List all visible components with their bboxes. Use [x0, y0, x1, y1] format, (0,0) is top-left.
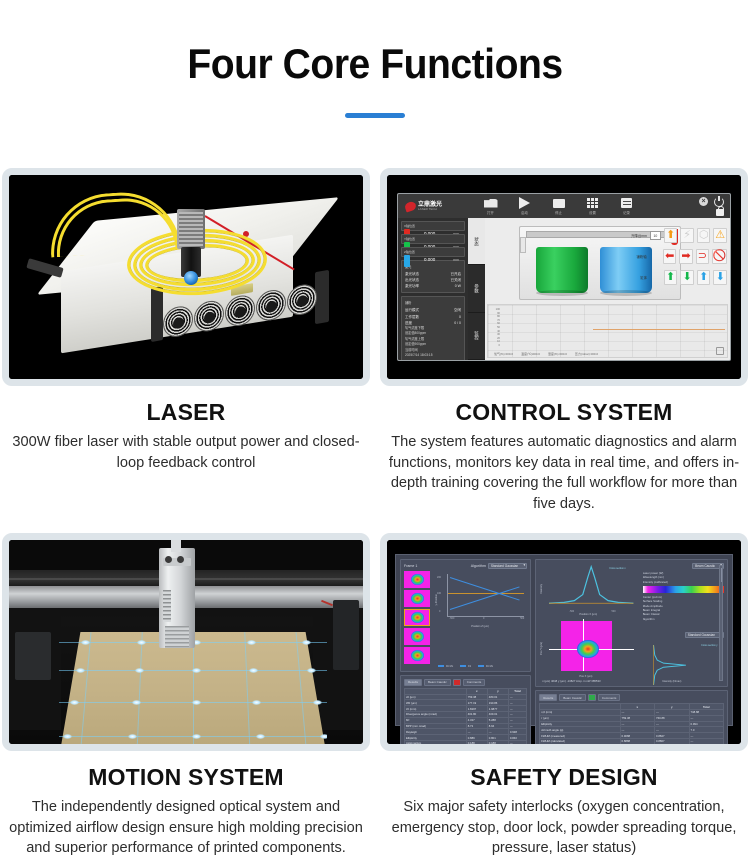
- tab-results[interactable]: Results: [404, 679, 422, 686]
- axis-z-label: Z轴位置: [404, 250, 462, 254]
- tab-record-indicator[interactable]: [453, 679, 461, 686]
- hmi-screen: 立鼎激光 LASER TECH 打开: [397, 193, 731, 361]
- color-spectrum-bar: [643, 586, 724, 593]
- chart-footer-temp: 温度(℃)000.0: [521, 352, 540, 356]
- param-intensity: Intensity (calibrated): [643, 580, 724, 584]
- results-panel-right: Results Beam Caustic Comments x: [535, 690, 728, 744]
- trend-chart: 10090807060 50403020100 氧气(%) 000.0 温度(℃…: [487, 304, 728, 358]
- axis-readout-z: Z轴位置 0.000 mm: [401, 247, 465, 257]
- side-tab-monitor[interactable]: 监控: [468, 313, 485, 360]
- laser-power-value: 0 W: [455, 283, 461, 289]
- no-entry-icon[interactable]: 🚫: [712, 249, 727, 264]
- vertical-peak-xlabel: Intensity (I/Imax): [662, 680, 681, 683]
- toolbar-start-label: 启动: [516, 210, 533, 215]
- blue-down-icon[interactable]: ⬇: [713, 270, 727, 285]
- card-title-laser: LASER: [2, 399, 370, 426]
- beam-right-panel: Intensity -500 500 Position X (µm) Cross…: [535, 559, 728, 721]
- caustic-legend: Fit Mx Fit Fit Mx: [404, 665, 527, 668]
- close-icon[interactable]: ×: [699, 197, 708, 206]
- results-table-right: x y Total x,0 (mm)------748.88 r (µm)759…: [539, 703, 724, 744]
- build-cylinder-green: [536, 247, 588, 293]
- jog-lift-stepper[interactable]: 10: [650, 231, 661, 240]
- logo-swoosh-icon: [404, 200, 417, 212]
- page-header: Four Core Functions: [0, 0, 750, 118]
- beam2d-xlabel: Pos X (µm): [579, 675, 592, 678]
- lock-icon[interactable]: [716, 209, 724, 216]
- jog-lift-label: 升降台mm: [631, 233, 647, 238]
- beam-readout-line: x (µm) 4648 y (µm) -13827 Amp. in nW 385…: [539, 679, 640, 683]
- motion-system-photo: [9, 540, 363, 744]
- legend-item: Fit: [468, 665, 471, 668]
- hmi-main-area: 升降台mm 10 ⬆ ⚡ ⬡ ⚠ 铺粉轴: [485, 218, 730, 360]
- jog-control-panel: 升降台mm 10 ⬆ ⚡ ⬡ ⚠ 铺粉轴: [631, 228, 727, 291]
- tab-beam-caustic-right[interactable]: Beam Caustic: [559, 694, 586, 701]
- panel-scrollbar[interactable]: [719, 565, 723, 681]
- green-up-icon[interactable]: ⬆: [664, 270, 678, 285]
- control-system-screenshot: 立鼎激光 LASER TECH 打开: [387, 175, 741, 379]
- caustic-ylabel: y-Position: [435, 594, 438, 605]
- beam-thumbnail[interactable]: [404, 647, 430, 664]
- hmi-toolbar: 立鼎激光 LASER TECH 打开: [398, 194, 730, 218]
- print-head: [159, 548, 195, 648]
- toolbar-records-button[interactable]: 记录: [618, 198, 635, 215]
- feature-card-safety-design: Frame 1 Algorithm Standard Gaussian: [380, 533, 748, 855]
- laser-status-box: 激光 激光状态已开启 出光状态已关闭 激光功率0 W: [401, 260, 465, 293]
- axis-z-indicator: [404, 255, 410, 267]
- peak-ylabel: Intensity: [540, 584, 543, 594]
- beam-parameter-list-2: Center (px/mm) Surface Scaling Mode Ampl…: [643, 595, 724, 621]
- calibration-grid: [59, 632, 327, 744]
- axis-z-unit: mm: [453, 258, 459, 262]
- progress-value: 0 / 0: [454, 320, 461, 326]
- results-tabs-right: Results Beam Caustic Comments: [539, 694, 724, 701]
- toolbar-open-label: 打开: [482, 210, 499, 215]
- logo-subtext: LASER TECH: [418, 208, 442, 211]
- laser-photo: [9, 175, 363, 379]
- side-tab-params[interactable]: 参数: [468, 265, 485, 312]
- axis-readout-y: Y轴位置 0.000 mm: [401, 234, 465, 244]
- legend-item: Fit Mx: [446, 665, 453, 668]
- feature-card-grid: LASER 300W fiber laser with stable outpu…: [0, 168, 750, 855]
- peak-legend: Cross section x: [609, 567, 625, 570]
- side-tab-status[interactable]: 状态: [468, 218, 485, 265]
- folder-icon: [482, 198, 499, 209]
- beam-vertical-peak-chart: Cross section y Intensity (I/Imax): [643, 643, 724, 683]
- beam-2d-view: Pos Y (µm) Pos X (µm): [539, 617, 640, 679]
- chart-expand-icon[interactable]: [716, 347, 724, 355]
- current-time-value: 2025/7/14 18:03:15: [405, 353, 461, 358]
- fiber-connector-head: [177, 209, 205, 249]
- chamber-diagram: 升降台mm 10 ⬆ ⚡ ⬡ ⚠ 铺粉轴: [485, 218, 730, 304]
- feature-card-control-system: 立鼎激光 LASER TECH 打开: [380, 168, 748, 515]
- card-description-motion-system: The independently designed optical syste…: [2, 797, 370, 855]
- right-arrow-icon[interactable]: ➡: [679, 249, 692, 264]
- card-description-laser: 300W fiber laser with stable output powe…: [2, 432, 370, 473]
- beam-thumbnail[interactable]: [404, 571, 430, 588]
- toolbar-start-button[interactable]: 启动: [516, 198, 533, 215]
- beam-left-panel: Frame 1 Algorithm Standard Gaussian: [400, 559, 531, 721]
- recoater-header: 铺粉: [405, 300, 461, 305]
- vertical-peak-legend: Cross section y: [701, 644, 717, 647]
- tab-comments-right[interactable]: Comments: [598, 694, 621, 701]
- toolbar-open-button[interactable]: 打开: [482, 198, 499, 215]
- chart-footer-pressure: 压力(mbar) 000.0: [575, 352, 598, 356]
- beam-peak-chart: Intensity -500 500 Position X (µm) Cross…: [539, 563, 640, 617]
- card-title-motion-system: MOTION SYSTEM: [2, 764, 370, 791]
- hmi-left-panel: X轴位置 0.000 mm Y轴位置 0.000 mm: [398, 218, 468, 360]
- jog-row-lift: 升降台mm 10 ⬆ ⚡ ⬡ ⚠: [631, 228, 727, 243]
- blue-up-icon[interactable]: ⬆: [697, 270, 711, 285]
- toolbar-settings-button[interactable]: 设置: [584, 198, 601, 215]
- beam2d-ylabel: Pos Y (µm): [540, 642, 543, 655]
- beam-profiler-app: Frame 1 Algorithm Standard Gaussian: [395, 554, 733, 726]
- chart-footer-o2: 氧气(%) 000.0: [494, 352, 513, 356]
- param-algorithm: Algorithm: [643, 617, 724, 621]
- hook-icon[interactable]: ⊃: [696, 249, 709, 264]
- table-row: Astigmatism0.1880.188---: [405, 740, 527, 743]
- table-row: FWHM (calculated)0.88880.8807---: [540, 738, 724, 743]
- control-system-image-frame: 立鼎激光 LASER TECH 打开: [380, 168, 748, 386]
- card-title-safety-design: SAFETY DESIGN: [380, 764, 748, 791]
- results-tabs-left: Results Beam Caustic Comments: [404, 679, 527, 686]
- axis-x-label: X轴位置: [404, 224, 462, 228]
- jog-row-cylinder: 缸体 ⬆ ⬇ ⬆ ⬇: [631, 270, 727, 285]
- title-accent-rule: [345, 113, 405, 118]
- laser-status-header: 激光: [405, 264, 461, 269]
- hmi-side-tabs: 状态 参数 监控: [468, 218, 485, 360]
- calendar-icon: [618, 198, 635, 209]
- card-description-control-system: The system features automatic diagnostic…: [380, 432, 748, 515]
- motion-system-image-frame: [2, 533, 370, 751]
- laser-power-key: 激光功率: [405, 283, 419, 289]
- caustic-chart: y-Position -500 0 500: [434, 571, 527, 629]
- chart-footer-humidity: 湿度(%) 000.0: [548, 352, 567, 356]
- feature-card-laser: LASER 300W fiber laser with stable outpu…: [2, 168, 370, 515]
- tab-results-right[interactable]: Results: [539, 694, 557, 701]
- trend-trace: [593, 329, 725, 330]
- tab-comments[interactable]: Comments: [463, 679, 486, 686]
- page-title: Four Core Functions: [26, 42, 724, 86]
- play-icon: [516, 198, 533, 209]
- axis-readout-x: X轴位置 0.000 mm: [401, 221, 465, 231]
- jog-cylinder-label: 缸体: [631, 275, 647, 280]
- card-description-safety-design: Six major safety interlocks (oxygen conc…: [380, 797, 748, 855]
- safety-design-image-frame: Frame 1 Algorithm Standard Gaussian: [380, 533, 748, 751]
- toolbar-stop-button[interactable]: 停止: [550, 198, 567, 215]
- jog-recoater-label: 铺粉轴: [631, 254, 647, 259]
- toolbar-settings-label: 设置: [584, 210, 601, 215]
- beam-profiler-screenshot: Frame 1 Algorithm Standard Gaussian: [387, 540, 741, 744]
- beam-parameter-list: Laser power (W) Wavelength (nm) Intensit…: [643, 571, 724, 584]
- toolbar-stop-label: 停止: [550, 210, 567, 215]
- progress-key: 进度: [405, 320, 412, 326]
- frame-label: Frame 1: [404, 564, 417, 568]
- results-table-left: x y Total x0 (µm)759.38480.01--- W0 (µm)…: [404, 688, 527, 744]
- results-panel-left: Results Beam Caustic Comments x: [400, 675, 531, 744]
- lightning-icon[interactable]: ⚡: [680, 228, 694, 243]
- grid-icon: [584, 198, 601, 209]
- legend-item: Fit Mx: [486, 665, 493, 668]
- tab-beam-caustic[interactable]: Beam Caustic: [424, 679, 451, 686]
- laser-output-lens: [184, 271, 198, 285]
- up-arrow-icon[interactable]: ⬆: [664, 228, 678, 243]
- feature-card-motion-system: MOTION SYSTEM The independently designed…: [2, 533, 370, 855]
- axis-z-value: 0.000: [424, 257, 435, 262]
- caustic-xlabel: Position Z (µm): [471, 625, 489, 628]
- beam-thumbnail[interactable]: [404, 628, 430, 645]
- stop-icon: [550, 198, 567, 209]
- shield-icon[interactable]: ⬡: [697, 228, 711, 243]
- warning-icon[interactable]: ⚠: [713, 228, 727, 243]
- tab-status-indicator[interactable]: [588, 694, 596, 701]
- card-title-control-system: CONTROL SYSTEM: [380, 399, 748, 426]
- jog-row-recoater: 铺粉轴 ⬅ ➡ ⊃ 🚫: [631, 249, 727, 264]
- green-down-icon[interactable]: ⬇: [680, 270, 694, 285]
- hmi-toolbar-buttons: 打开 启动 停止: [482, 198, 635, 215]
- algorithm-select[interactable]: Standard Gaussian: [488, 563, 527, 569]
- page-root: Four Core Functions: [0, 0, 750, 855]
- hmi-logo: 立鼎激光 LASER TECH: [402, 202, 468, 211]
- beam-thumbnail[interactable]: [404, 590, 430, 607]
- laser-image-frame: [2, 168, 370, 386]
- toolbar-records-label: 记录: [618, 210, 635, 215]
- algorithm-label: Algorithm: [471, 564, 486, 568]
- beam-thumbnail-selected[interactable]: [404, 609, 430, 626]
- recoater-info-box: 铺粉 运行模式空闲 工作层数0 进度0 / 0 氧气浓度下限 设定值800ppm…: [401, 296, 465, 361]
- left-arrow-icon[interactable]: ⬅: [663, 249, 676, 264]
- axis-y-label: Y轴位置: [404, 237, 462, 241]
- beam-thumbnail-list: [404, 571, 430, 664]
